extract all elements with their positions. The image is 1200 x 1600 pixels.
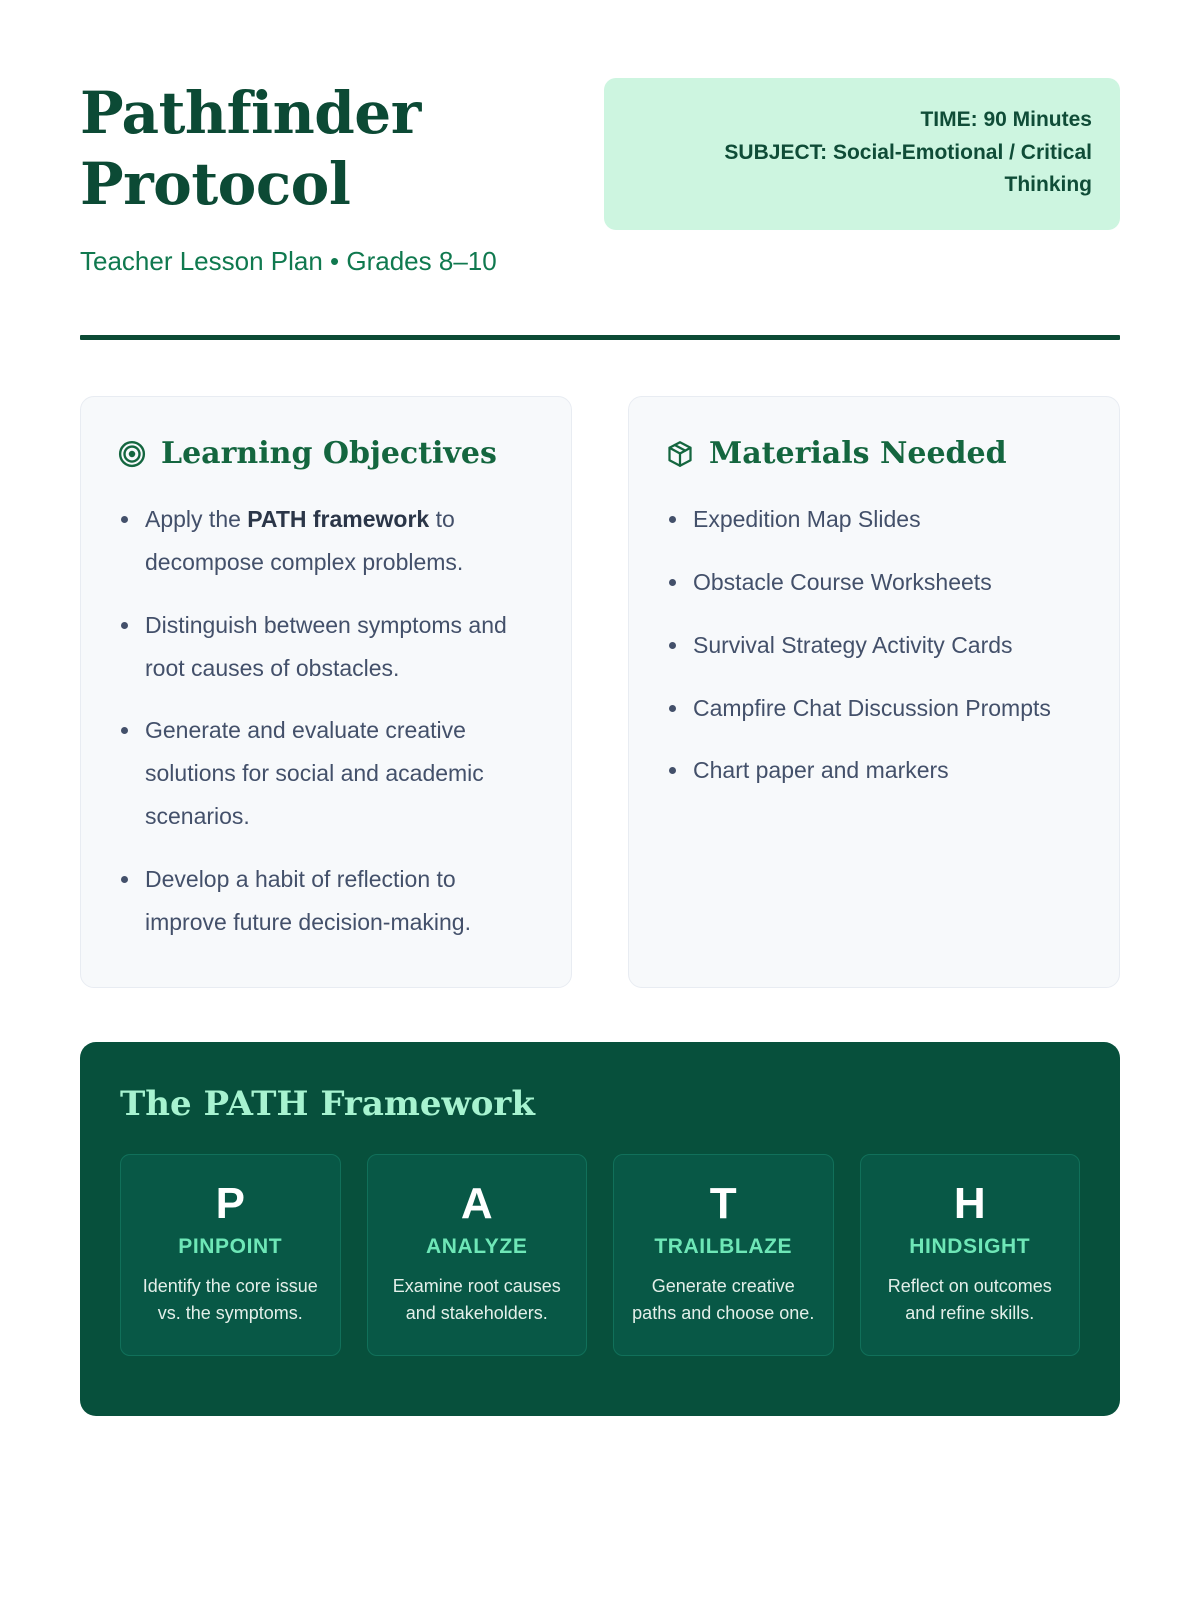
path-step-letter: H — [877, 1181, 1064, 1227]
path-step-letter: T — [630, 1181, 817, 1227]
package-box-icon — [665, 439, 695, 469]
materials-needed-card: Materials Needed Expedition Map Slides O… — [628, 396, 1120, 988]
objectives-list: Apply the PATH framework to decompose co… — [117, 498, 535, 943]
path-step-analyze: A ANALYZE Examine root causes and stakeh… — [367, 1154, 588, 1356]
list-item: Chart paper and markers — [665, 749, 1083, 792]
list-item: Expedition Map Slides — [665, 498, 1083, 541]
path-step-description: Reflect on outcomes and refine skills. — [877, 1273, 1064, 1327]
path-step-hindsight: H HINDSIGHT Reflect on outcomes and refi… — [860, 1154, 1081, 1356]
path-step-name: HINDSIGHT — [877, 1235, 1064, 1259]
page-subtitle: Teacher Lesson Plan • Grades 8–10 — [80, 244, 580, 280]
path-step-letter: P — [137, 1181, 324, 1227]
list-item: Generate and evaluate creative solutions… — [117, 709, 535, 837]
item-text: Expedition Map Slides — [693, 506, 921, 532]
header-divider — [80, 335, 1120, 340]
list-item: Develop a habit of reflection to improve… — [117, 858, 535, 944]
item-text: Chart paper and markers — [693, 757, 949, 783]
path-step-name: PINPOINT — [137, 1235, 324, 1259]
item-text: Develop a habit of reflection to improve… — [145, 866, 471, 935]
list-item: Apply the PATH framework to decompose co… — [117, 498, 535, 584]
card-header: Learning Objectives — [117, 437, 535, 470]
card-title: Learning Objectives — [161, 437, 497, 470]
path-step-trailblaze: T TRAILBLAZE Generate creative paths and… — [613, 1154, 834, 1356]
info-card-grid: Learning Objectives Apply the PATH frame… — [80, 396, 1120, 988]
path-framework-title: The PATH Framework — [120, 1086, 1080, 1123]
list-item: Obstacle Course Worksheets — [665, 561, 1083, 604]
path-step-pinpoint: P PINPOINT Identify the core issue vs. t… — [120, 1154, 341, 1356]
meta-subject: SUBJECT: Social-Emotional / Critical Thi… — [632, 137, 1092, 202]
learning-objectives-card: Learning Objectives Apply the PATH frame… — [80, 396, 572, 988]
item-text: Generate and evaluate creative solutions… — [145, 717, 484, 829]
path-step-name: ANALYZE — [384, 1235, 571, 1259]
path-framework-panel: The PATH Framework P PINPOINT Identify t… — [80, 1042, 1120, 1416]
path-step-name: TRAILBLAZE — [630, 1235, 817, 1259]
list-item: Distinguish between symptoms and root ca… — [117, 604, 535, 690]
card-title: Materials Needed — [709, 437, 1007, 470]
page-title: Pathfinder Protocol — [80, 78, 580, 220]
path-step-description: Identify the core issue vs. the symptoms… — [137, 1273, 324, 1327]
item-text: Apply the — [145, 506, 247, 532]
header-title-block: Pathfinder Protocol Teacher Lesson Plan … — [80, 78, 580, 279]
bullseye-target-icon — [117, 439, 147, 469]
card-header: Materials Needed — [665, 437, 1083, 470]
path-step-description: Generate creative paths and choose one. — [630, 1273, 817, 1327]
item-text: Survival Strategy Activity Cards — [693, 632, 1013, 658]
item-text: Distinguish between symptoms and root ca… — [145, 612, 507, 681]
page-header: Pathfinder Protocol Teacher Lesson Plan … — [80, 0, 1120, 279]
materials-list: Expedition Map Slides Obstacle Course Wo… — [665, 498, 1083, 792]
item-bold: PATH framework — [247, 506, 429, 532]
list-item: Survival Strategy Activity Cards — [665, 624, 1083, 667]
meta-time: TIME: 90 Minutes — [632, 104, 1092, 137]
path-step-letter: A — [384, 1181, 571, 1227]
item-text: Campfire Chat Discussion Prompts — [693, 695, 1051, 721]
item-text: Obstacle Course Worksheets — [693, 569, 992, 595]
path-step-grid: P PINPOINT Identify the core issue vs. t… — [120, 1154, 1080, 1356]
lesson-meta-badge: TIME: 90 Minutes SUBJECT: Social-Emotion… — [604, 78, 1120, 230]
path-step-description: Examine root causes and stakeholders. — [384, 1273, 571, 1327]
lesson-plan-page: Pathfinder Protocol Teacher Lesson Plan … — [0, 0, 1200, 1600]
list-item: Campfire Chat Discussion Prompts — [665, 687, 1083, 730]
